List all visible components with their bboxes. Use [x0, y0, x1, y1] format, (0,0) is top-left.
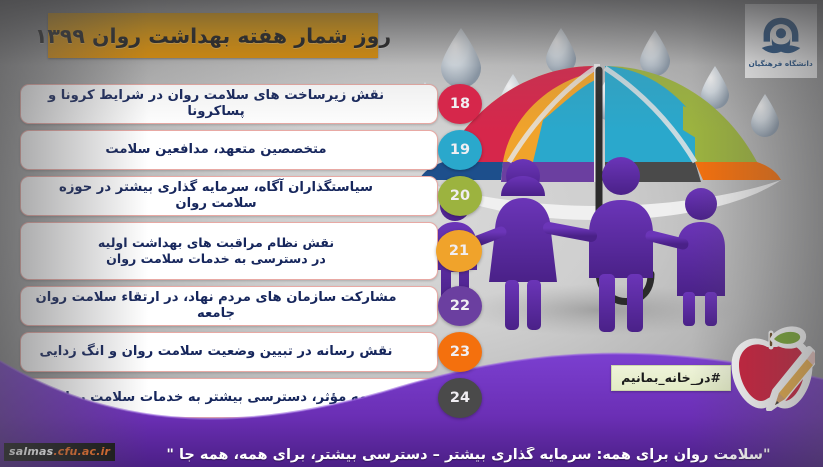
day-bar[interactable]: نقش نظام مراقبت های بهداشت اولیه در دستر…: [20, 222, 438, 280]
website-url[interactable]: salmas.cfu.ac.ir: [4, 443, 115, 461]
page-title-text: روز شمار هفته بهداشت روان ۱۳۹۹: [35, 24, 391, 48]
day-text: سیاستگذاران آگاه، سرمایه گذاری بیشتر در …: [35, 180, 397, 213]
day-number-badge: 18: [438, 84, 482, 124]
footer-slogan: "سلامت روان برای همه: سرمایه گذاری بیشتر…: [120, 447, 817, 463]
poster-canvas: دانشگاه فرهنگیان نقش زیرساخت های سلامت ر…: [0, 0, 823, 467]
day-text: مشارکت سازمان های مردم نهاد، در ارتقاء س…: [35, 290, 397, 323]
list-item[interactable]: نقش نظام مراقبت های بهداشت اولیه در دستر…: [12, 222, 482, 280]
hashtag-text: #در_خانه_بمانیم: [621, 370, 721, 385]
day-number-badge: 23: [438, 332, 482, 372]
url-suffix: .cfu.ac.ir: [53, 445, 110, 458]
logo-caption: دانشگاه فرهنگیان: [749, 60, 813, 68]
day-text: متخصصین متعهد، مدافعین سلامت: [35, 142, 397, 159]
day-text: نقش زیرساخت های سلامت روان در شرایط کرون…: [35, 88, 397, 121]
page-title: روز شمار هفته بهداشت روان ۱۳۹۹: [48, 13, 378, 58]
list-item[interactable]: سیاستگذاران آگاه، سرمایه گذاری بیشتر در …: [12, 176, 482, 216]
list-item[interactable]: متخصصین متعهد، مدافعین سلامت 19: [12, 130, 482, 170]
day-bar[interactable]: نقش زیرساخت های سلامت روان در شرایط کرون…: [20, 84, 438, 124]
day-number-badge: 21: [436, 230, 482, 272]
list-item[interactable]: نقش زیرساخت های سلامت روان در شرایط کرون…: [12, 84, 482, 124]
hashtag-badge: #در_خانه_بمانیم: [611, 365, 731, 391]
day-bar[interactable]: سیاستگذاران آگاه، سرمایه گذاری بیشتر در …: [20, 176, 438, 216]
url-main: salmas: [9, 445, 53, 458]
day-number-badge: 24: [438, 378, 482, 418]
day-bar[interactable]: متخصصین متعهد، مدافعین سلامت: [20, 130, 438, 170]
day-number-badge: 20: [438, 176, 482, 216]
day-number-badge: 19: [438, 130, 482, 170]
day-number-badge: 22: [438, 286, 482, 326]
day-bar[interactable]: مشارکت سازمان های مردم نهاد، در ارتقاء س…: [20, 286, 438, 326]
farhangian-university-logo-icon: [758, 15, 804, 59]
university-logo: دانشگاه فرهنگیان: [745, 4, 817, 78]
day-text: نقش نظام مراقبت های بهداشت اولیه در دستر…: [35, 235, 397, 266]
apple-and-pencil-icon: [723, 325, 815, 411]
list-item[interactable]: مشارکت سازمان های مردم نهاد، در ارتقاء س…: [12, 286, 482, 326]
